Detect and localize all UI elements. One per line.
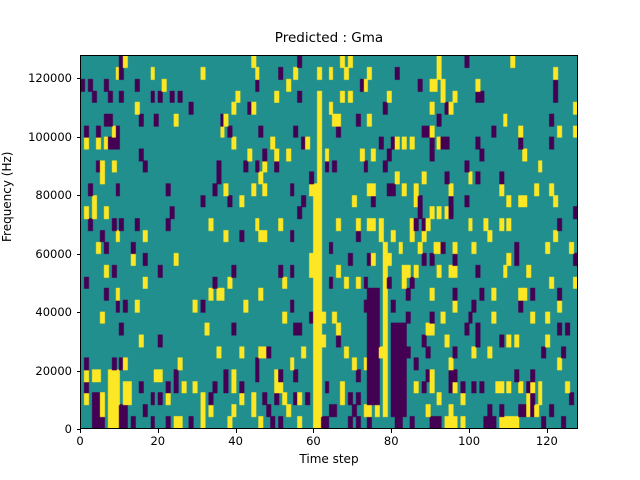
y-tick-label: 100000	[28, 131, 72, 143]
y-tick-label: 60000	[35, 248, 72, 260]
page-title: Predicted : Gma	[80, 30, 578, 46]
y-tick-label: 20000	[35, 365, 72, 377]
x-tick-label: 80	[384, 435, 399, 447]
x-tick-label: 20	[150, 435, 165, 447]
x-tick-mark	[236, 429, 237, 433]
matplotlib-figure: Predicted : Gma Frequency (Hz) 020000400…	[0, 0, 640, 480]
x-tick-label: 0	[76, 435, 83, 447]
x-tick-label: 100	[458, 435, 480, 447]
x-tick-mark	[313, 429, 314, 433]
y-tick-label: 0	[65, 423, 72, 435]
y-tick-label: 120000	[28, 72, 72, 84]
x-tick-label: 120	[536, 435, 558, 447]
plot-axes	[80, 55, 578, 429]
x-tick-mark	[80, 429, 81, 433]
x-tick-mark	[158, 429, 159, 433]
x-axis-label: Time step	[80, 452, 578, 466]
y-tick-label: 40000	[35, 306, 72, 318]
x-tick-label: 60	[306, 435, 321, 447]
x-tick-mark	[391, 429, 392, 433]
x-tick-mark	[547, 429, 548, 433]
y-axis-label: Frequency (Hz)	[0, 152, 14, 243]
y-tick-label: 80000	[35, 189, 72, 201]
heatmap-image	[81, 56, 577, 428]
x-tick-mark	[469, 429, 470, 433]
x-tick-label: 40	[228, 435, 243, 447]
